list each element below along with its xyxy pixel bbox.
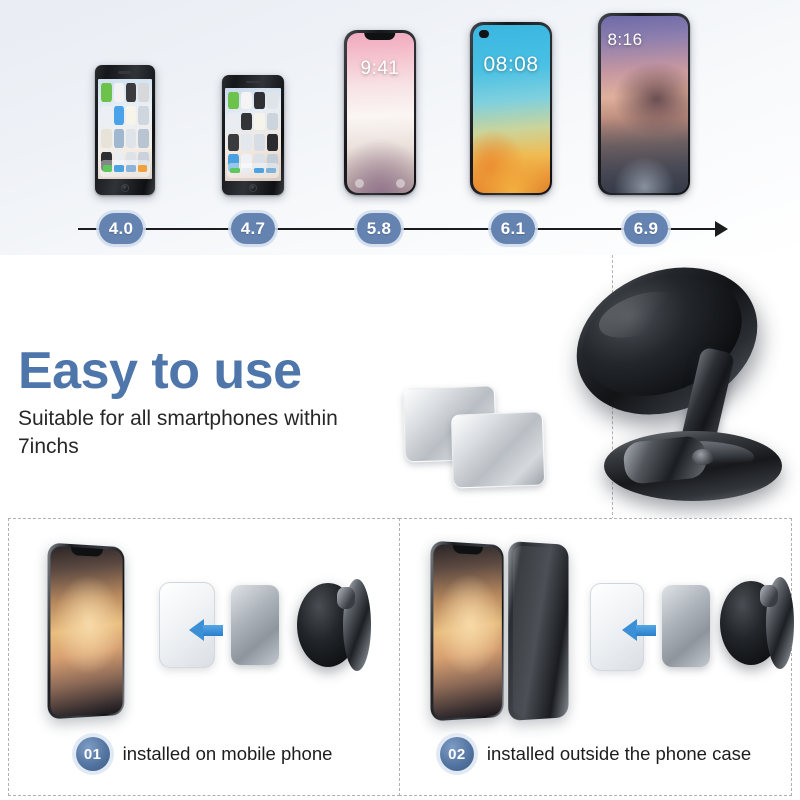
app-icon xyxy=(114,129,124,148)
size-comparison-section: 9:41 xyxy=(0,0,800,255)
phone-body: 8:16 xyxy=(598,13,690,195)
mount-clip xyxy=(337,587,355,609)
app-icon xyxy=(267,113,278,130)
dock-icon xyxy=(114,165,123,172)
app-dock xyxy=(227,163,279,179)
app-icon xyxy=(241,92,252,109)
dock-icon xyxy=(230,168,240,174)
size-badge-label: 5.8 xyxy=(367,219,392,239)
app-icon xyxy=(241,134,252,151)
install-diagram-02 xyxy=(400,527,791,737)
app-dock xyxy=(100,160,151,177)
app-icon xyxy=(114,106,124,125)
mount-magnet xyxy=(720,577,794,669)
flashlight-icon xyxy=(355,179,364,188)
size-badge-label: 4.0 xyxy=(109,219,134,239)
app-icon xyxy=(228,92,239,109)
size-badge-5-8[interactable]: 5.8 xyxy=(357,213,401,244)
install-panel-01: 01 installed on mobile phone xyxy=(8,518,400,796)
dock-icon xyxy=(266,168,276,174)
app-icon xyxy=(138,83,148,102)
mount-clip xyxy=(760,585,778,607)
arrow-head xyxy=(189,619,204,641)
app-icon xyxy=(101,83,111,102)
size-badge-label: 6.1 xyxy=(501,219,526,239)
product-hero-image xyxy=(390,255,800,520)
camera-icon xyxy=(396,179,405,188)
app-icon xyxy=(101,106,111,125)
step-badge-02: 02 xyxy=(440,737,474,771)
step-number: 02 xyxy=(448,746,466,763)
app-icon xyxy=(267,92,278,109)
phone-screen: 08:08 xyxy=(473,25,550,193)
app-icon xyxy=(114,83,124,102)
easy-to-use-section: Easy to use Suitable for all smartphones… xyxy=(0,255,800,520)
timeline-arrow-icon xyxy=(715,221,728,237)
notch-icon xyxy=(71,547,103,557)
size-badge-6-9[interactable]: 6.9 xyxy=(624,213,668,244)
app-icon xyxy=(126,106,136,125)
phone-body xyxy=(222,75,284,195)
dock-icon xyxy=(138,165,147,172)
app-icon xyxy=(228,134,239,151)
panel-caption-01: 01 installed on mobile phone xyxy=(9,737,399,771)
phone-screen xyxy=(433,543,502,718)
size-badge-4-7[interactable]: 4.7 xyxy=(231,213,275,244)
lockscreen-shortcuts xyxy=(347,179,414,188)
dock-icon xyxy=(126,165,135,172)
step-number: 01 xyxy=(84,746,102,763)
notch-icon xyxy=(453,545,483,555)
phone-screen: 9:41 xyxy=(347,33,414,193)
app-icon xyxy=(138,106,148,125)
phone-lineup: 9:41 xyxy=(0,0,800,205)
status-bar xyxy=(606,18,683,23)
mount-adjust-knob xyxy=(692,449,714,465)
size-timeline: 4.0 4.7 5.8 6.1 6.9 xyxy=(0,205,800,253)
dock-icon xyxy=(254,168,264,174)
phone-6-9: 8:16 xyxy=(598,13,690,195)
install-diagram-01 xyxy=(9,527,399,737)
size-badge-label: 4.7 xyxy=(241,219,266,239)
lockscreen-time: 9:41 xyxy=(347,58,414,80)
phone-5-8: 9:41 xyxy=(344,30,416,195)
arrow-head xyxy=(622,619,637,641)
app-icon xyxy=(138,129,148,148)
app-icon xyxy=(254,134,265,151)
exploded-phone xyxy=(430,541,503,722)
mount-magnet-head xyxy=(560,245,773,438)
phone-screen xyxy=(50,545,122,716)
product-infographic: 9:41 xyxy=(0,0,800,800)
earpiece-icon xyxy=(246,81,260,84)
phone-6-1: 08:08 xyxy=(470,22,552,195)
metal-plate-2 xyxy=(451,411,546,488)
mount-magnet-face xyxy=(570,255,756,416)
phone-screen xyxy=(98,79,152,179)
app-icon xyxy=(267,134,278,151)
phone-4-7 xyxy=(222,75,284,195)
app-icon xyxy=(241,113,252,130)
dock-icon xyxy=(103,165,112,172)
arrow-shaft xyxy=(203,625,223,636)
phone-screen: 8:16 xyxy=(601,16,688,193)
size-badge-6-1[interactable]: 6.1 xyxy=(491,213,535,244)
phone-body xyxy=(95,65,155,195)
metal-plate xyxy=(662,585,710,667)
phone-case xyxy=(508,541,568,721)
home-button-icon xyxy=(249,184,257,192)
step-badge-01: 01 xyxy=(76,737,110,771)
app-icon xyxy=(126,83,136,102)
app-icon xyxy=(254,92,265,109)
attach-arrow-icon xyxy=(189,619,223,641)
earpiece-icon xyxy=(118,71,131,74)
size-badge-4-0[interactable]: 4.0 xyxy=(99,213,143,244)
dock-icon xyxy=(242,168,252,174)
metal-plate xyxy=(231,585,279,665)
panel-caption-02: 02 installed outside the phone case xyxy=(400,737,791,771)
app-icon xyxy=(101,129,111,148)
magnetic-car-mount xyxy=(550,263,790,513)
lockscreen-time: 8:16 xyxy=(607,30,642,50)
caption-text: installed outside the phone case xyxy=(487,743,751,765)
arrow-shaft xyxy=(636,625,656,636)
caption-text: installed on mobile phone xyxy=(123,743,333,765)
phone-body: 08:08 xyxy=(470,22,552,195)
status-bar xyxy=(351,35,410,40)
size-badge-label: 6.9 xyxy=(634,219,659,239)
app-icon xyxy=(228,113,239,130)
phone-body: 9:41 xyxy=(344,30,416,195)
exploded-phone xyxy=(48,543,125,720)
installation-panels: 01 installed on mobile phone xyxy=(0,518,800,800)
headline: Easy to use xyxy=(18,345,302,397)
phone-4-0 xyxy=(95,65,155,195)
mount-magnet xyxy=(297,579,371,671)
lockscreen-time: 08:08 xyxy=(473,53,550,77)
subheadline: Suitable for all smartphones within 7inc… xyxy=(18,405,348,460)
home-button-icon xyxy=(121,184,129,192)
attach-arrow-icon xyxy=(622,619,656,641)
app-icon xyxy=(254,113,265,130)
app-icon xyxy=(126,129,136,148)
status-bar xyxy=(477,27,545,32)
install-panel-02: 02 installed outside the phone case xyxy=(399,518,792,796)
phone-screen xyxy=(225,88,281,180)
